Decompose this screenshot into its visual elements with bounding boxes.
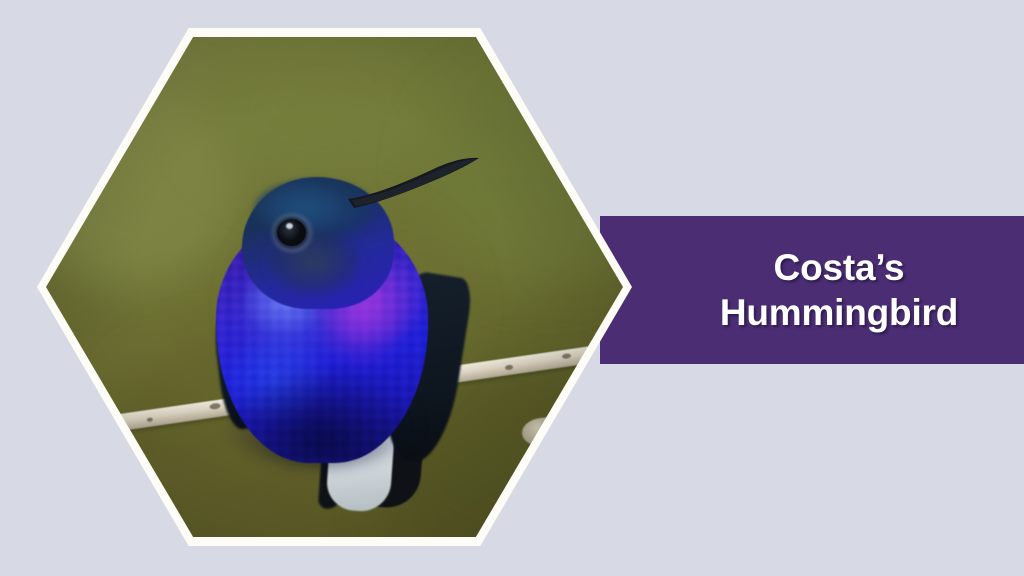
- eye-highlight: [286, 223, 293, 229]
- bird-bill: [346, 155, 484, 215]
- body-shadow: [222, 367, 422, 467]
- title-banner: Costa’s Hummingbird: [600, 216, 1024, 364]
- hummingbird: [46, 37, 623, 537]
- page-title: Costa’s Hummingbird: [720, 245, 958, 335]
- hexagon-photo-frame: [37, 28, 632, 546]
- photo-content: [46, 37, 623, 537]
- slide-canvas: Costa’s Hummingbird: [0, 0, 1024, 576]
- hummingbird-photo: [46, 37, 623, 537]
